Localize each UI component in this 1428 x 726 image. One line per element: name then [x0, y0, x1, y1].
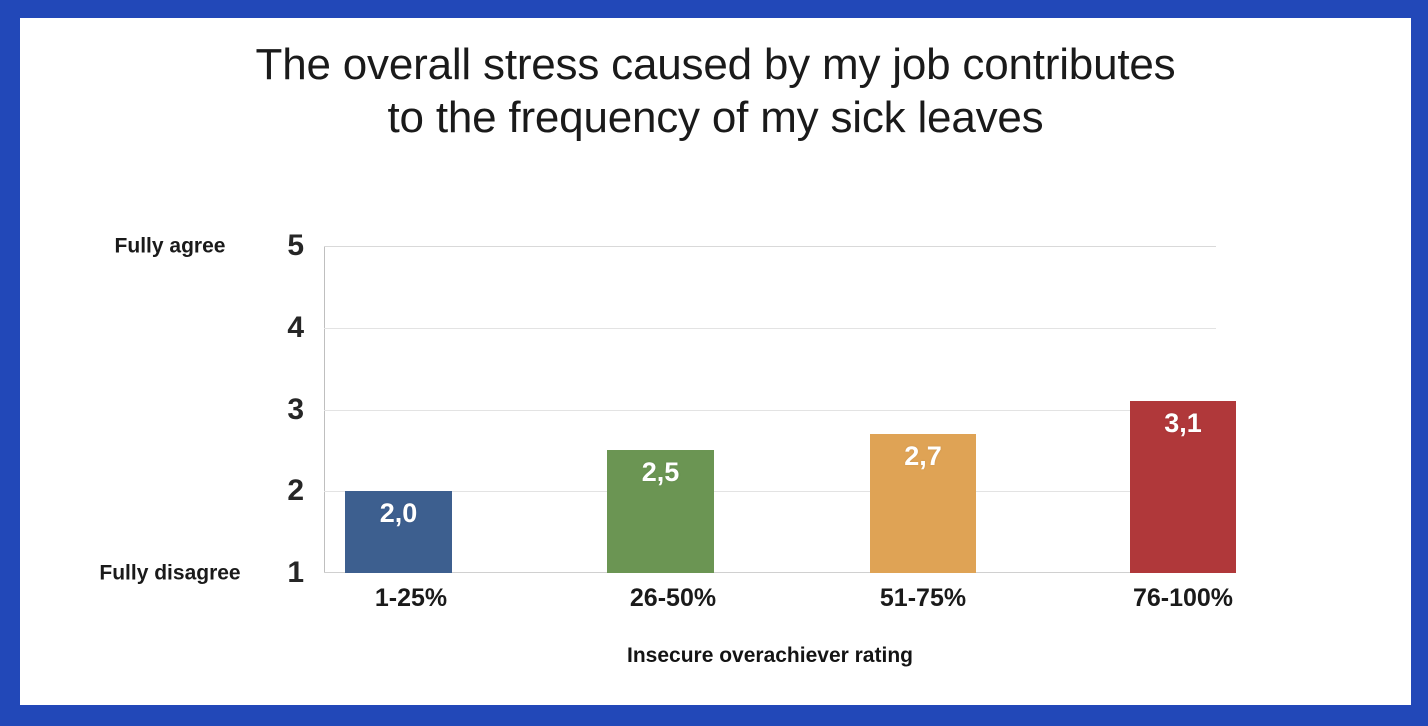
chart-card: The overall stress caused by my job cont… [20, 18, 1411, 705]
y-tick-4: 4 [264, 313, 304, 343]
plot-area: 2,0 2,5 2,7 3,1 [324, 246, 1216, 573]
x-label-51-75: 51-75% [810, 586, 1036, 611]
bar-value-76-100: 3,1 [1130, 409, 1236, 439]
chart-screenshot: The overall stress caused by my job cont… [0, 0, 1428, 726]
y-tick-3: 3 [264, 395, 304, 425]
y-anchor-label-low: Fully disagree [60, 563, 280, 584]
bar-76-100[interactable]: 3,1 [1130, 401, 1236, 573]
plot-wrapper: 5 4 3 2 1 Fully agree Fully disagree 2,0 [20, 18, 1411, 705]
bar-26-50[interactable]: 2,5 [607, 450, 714, 573]
bar-value-51-75: 2,7 [870, 442, 976, 472]
y-anchor-label-high: Fully agree [60, 236, 280, 257]
bar-value-26-50: 2,5 [607, 458, 714, 488]
y-tick-2: 2 [264, 476, 304, 506]
bar-series: 2,0 2,5 2,7 3,1 [324, 246, 1216, 573]
x-label-26-50: 26-50% [560, 586, 786, 611]
bar-value-1-25: 2,0 [345, 499, 452, 529]
x-label-76-100: 76-100% [1070, 586, 1296, 611]
bar-1-25[interactable]: 2,0 [345, 491, 452, 573]
x-label-1-25: 1-25% [298, 586, 524, 611]
x-axis-title: Insecure overachiever rating [324, 645, 1216, 666]
x-axis-labels: 1-25% 26-50% 51-75% 76-100% [324, 586, 1216, 626]
bar-51-75[interactable]: 2,7 [870, 434, 976, 573]
